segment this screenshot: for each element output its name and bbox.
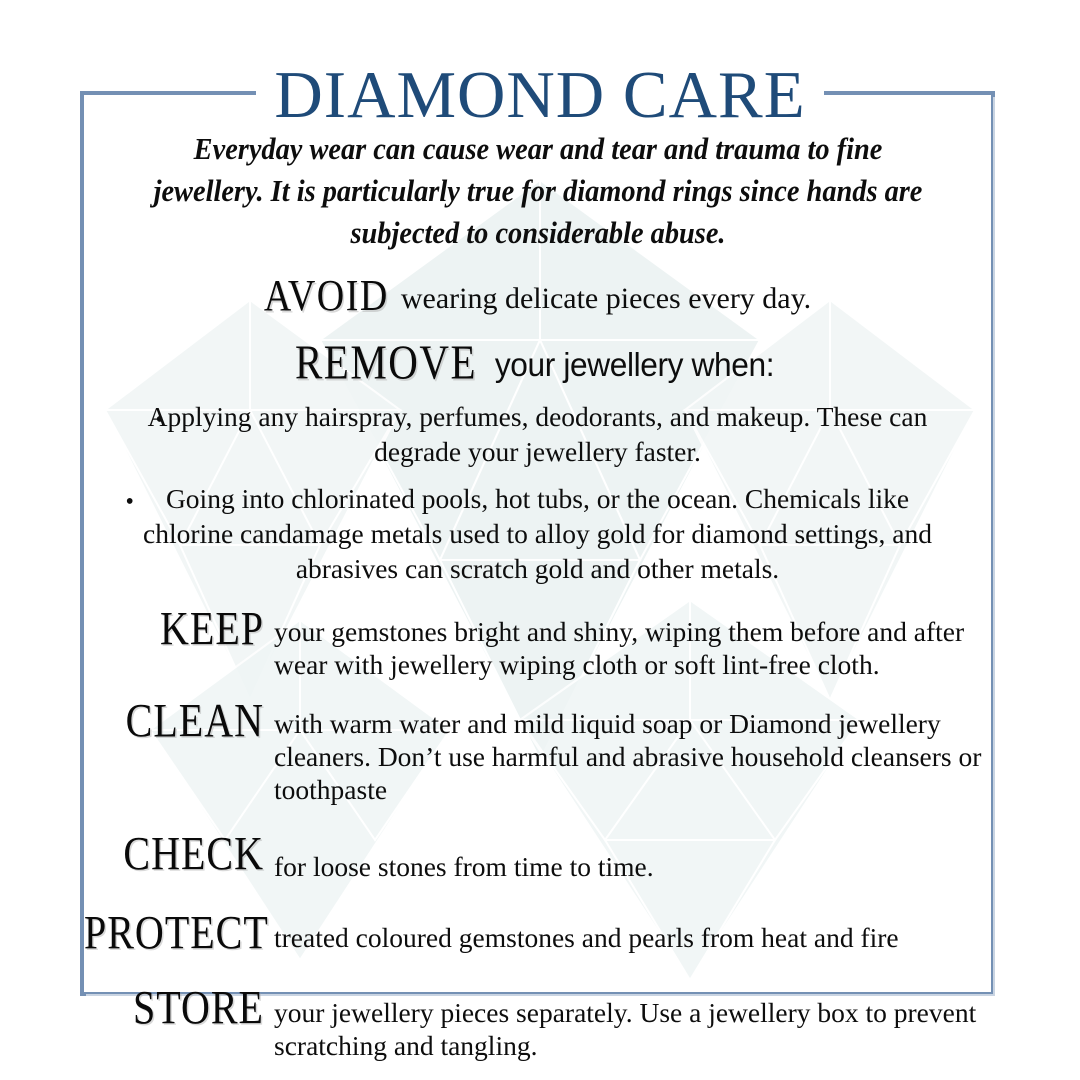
diamond-care-poster: DIAMOND CARE Everyday wear can cause wea…	[0, 0, 1080, 1080]
care-block-clean: CLEAN with warm water and mild liquid so…	[84, 703, 991, 806]
list-item-text: Going into chlorinated pools, hot tubs, …	[143, 483, 932, 584]
care-block-keep: KEEP your gemstones bright and shiny, wi…	[84, 611, 991, 681]
clean-text: with warm water and mild liquid soap or …	[274, 703, 991, 806]
keep-text: your gemstones bright and shiny, wiping …	[274, 611, 991, 681]
intro-paragraph: Everyday wear can cause wear and tear an…	[138, 128, 938, 254]
care-block-check: CHECK for loose stones from time to time…	[84, 836, 991, 883]
store-text: your jewellery pieces separately. Use a …	[274, 990, 991, 1062]
care-block-store: STORE your jewellery pieces separately. …	[84, 990, 991, 1062]
poster-content: Everyday wear can cause wear and tear an…	[84, 128, 991, 1062]
care-block-protect: PROTECT treated coloured gemstones and p…	[84, 915, 991, 954]
protect-keyword-column: PROTECT	[84, 915, 274, 952]
list-item: • Applying any hairspray, perfumes, deod…	[108, 400, 968, 470]
remove-keyword: REMOVE	[295, 334, 477, 391]
store-keyword-column: STORE	[84, 990, 274, 1027]
protect-text: treated coloured gemstones and pearls fr…	[274, 915, 991, 954]
page-title: DIAMOND CARE	[256, 60, 823, 130]
remove-bullet-list: • Applying any hairspray, perfumes, deod…	[108, 400, 968, 587]
clean-keyword: CLEAN	[126, 700, 264, 743]
page-title-container: DIAMOND CARE	[0, 60, 1080, 130]
avoid-keyword: AVOID	[264, 270, 389, 322]
protect-keyword: PROTECT	[84, 912, 269, 955]
remove-row: REMOVEyour jewellery when:	[84, 338, 991, 386]
list-item: • Going into chlorinated pools, hot tubs…	[108, 482, 968, 587]
remove-text: your jewellery when:	[495, 346, 774, 384]
avoid-row: AVOIDwearing delicate pieces every day.	[84, 274, 991, 318]
keep-keyword-column: KEEP	[84, 611, 274, 648]
keep-keyword: KEEP	[160, 608, 264, 651]
bullet-dot-icon: •	[156, 408, 164, 432]
store-keyword: STORE	[133, 987, 264, 1030]
check-text: for loose stones from time to time.	[274, 836, 991, 883]
check-keyword: CHECK	[123, 833, 264, 876]
check-keyword-column: CHECK	[84, 836, 274, 873]
bullet-dot-icon: •	[126, 490, 134, 514]
avoid-text: wearing delicate pieces every day.	[401, 282, 811, 315]
list-item-text: Applying any hairspray, perfumes, deodor…	[148, 401, 928, 467]
clean-keyword-column: CLEAN	[84, 703, 274, 740]
